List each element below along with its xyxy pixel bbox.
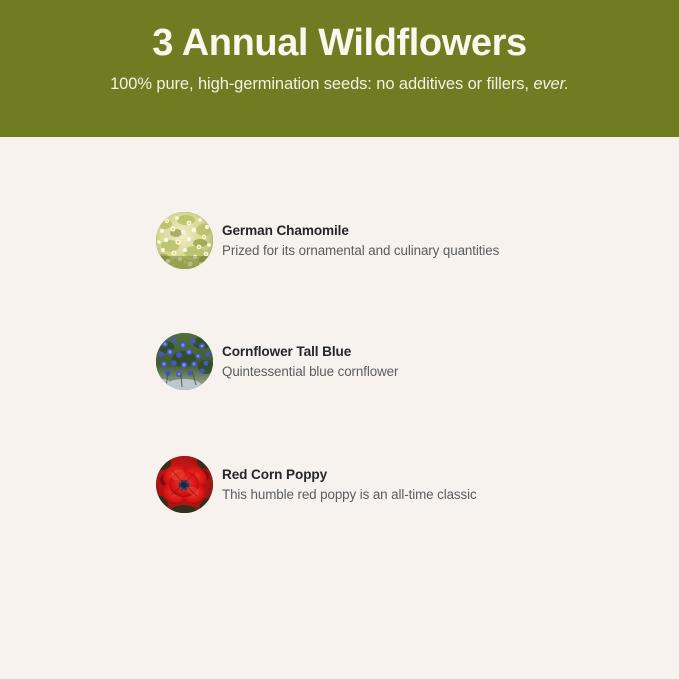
cornflower-tall-blue-art (156, 333, 213, 390)
seed-name: Red Corn Poppy (222, 465, 477, 484)
red-corn-poppy-photo-icon (156, 456, 213, 513)
seed-text-block: Red Corn Poppy This humble red poppy is … (222, 465, 477, 504)
product-infographic: 3 Annual Wildflowers 100% pure, high-ger… (0, 0, 679, 679)
list-item: Red Corn Poppy This humble red poppy is … (156, 455, 626, 513)
seed-description: Prized for its ornamental and culinary q… (222, 241, 499, 260)
header-banner: 3 Annual Wildflowers 100% pure, high-ger… (0, 0, 679, 140)
seed-text-block: Cornflower Tall Blue Quintessential blue… (222, 342, 398, 381)
page-subtitle: 100% pure, high-germination seeds: no ad… (0, 73, 679, 95)
seed-name: Cornflower Tall Blue (222, 342, 398, 361)
red-corn-poppy-art (156, 456, 213, 513)
header-content: 3 Annual Wildflowers 100% pure, high-ger… (0, 0, 679, 132)
page-title: 3 Annual Wildflowers (0, 21, 679, 65)
list-item: Cornflower Tall Blue Quintessential blue… (156, 332, 626, 390)
seed-description: Quintessential blue cornflower (222, 362, 398, 381)
cornflower-tall-blue-photo-icon (156, 333, 213, 390)
list-item: German Chamomile Prized for its ornament… (156, 211, 626, 269)
page-subtitle-emphasis: ever. (533, 75, 569, 93)
seed-description: This humble red poppy is an all-time cla… (222, 485, 477, 504)
german-chamomile-photo-icon (156, 212, 213, 269)
german-chamomile-art (156, 212, 213, 269)
seed-text-block: German Chamomile Prized for its ornament… (222, 221, 499, 260)
seed-name: German Chamomile (222, 221, 499, 240)
page-subtitle-text: 100% pure, high-germination seeds: no ad… (110, 75, 533, 93)
